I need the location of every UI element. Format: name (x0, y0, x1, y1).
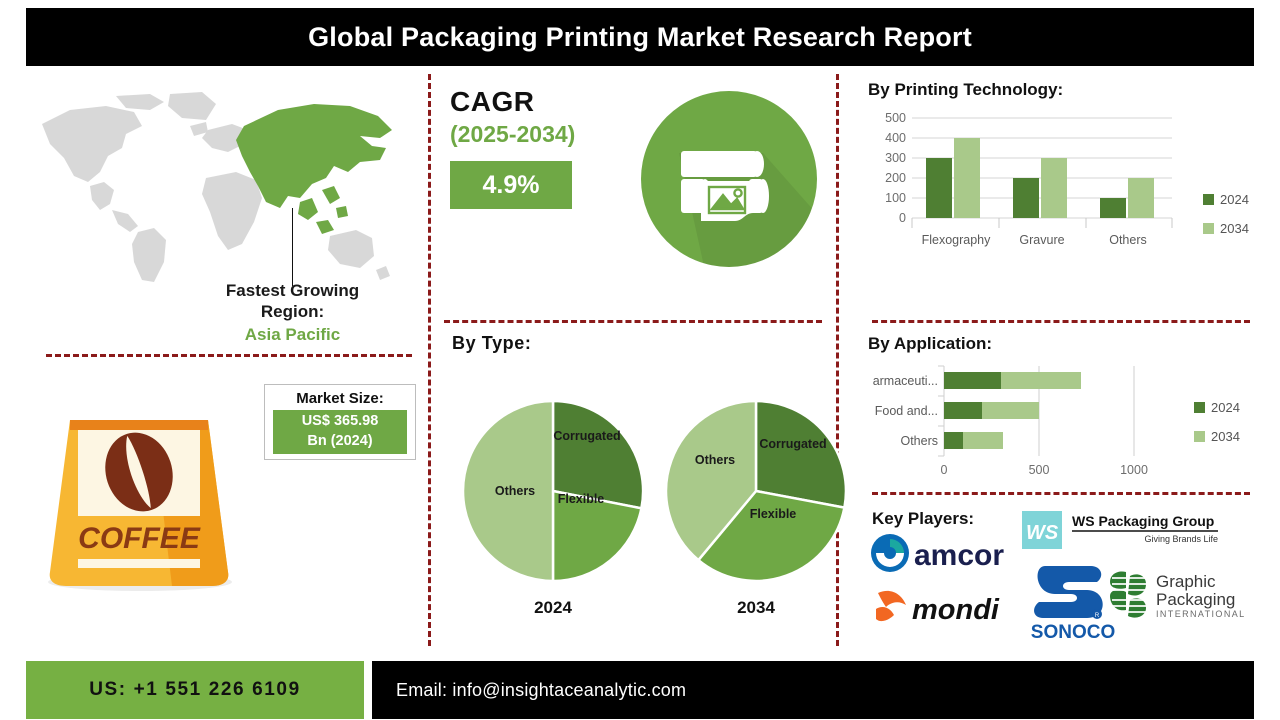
svg-text:500: 500 (1029, 463, 1050, 477)
pie-chart-2024: Corrugated Flexible Others (460, 398, 646, 584)
legend-item-app-2034: 2034 (1194, 429, 1240, 444)
coffee-bag-icon: COFFEE (32, 404, 247, 594)
pie-2024-slice-label-corrugated: Corrugated (553, 429, 620, 443)
graphic-packaging-name-line2: Packaging (1156, 590, 1235, 609)
divider-horizontal-col2 (444, 320, 822, 323)
divider-horizontal-col3-top (872, 320, 1250, 323)
legend-swatch-2034 (1203, 223, 1214, 234)
svg-text:SONOCO: SONOCO (1031, 622, 1115, 642)
svg-text:WS: WS (1026, 522, 1059, 544)
footer-email-text: Email: info@insightaceanalytic.com (396, 680, 686, 701)
svg-text:amcor: amcor (914, 539, 1004, 572)
svg-text:1000: 1000 (1120, 463, 1148, 477)
by-application-title: By Application: (868, 334, 992, 354)
svg-text:0: 0 (941, 463, 948, 477)
market-size-value-line1: US$ 365.98 (302, 413, 379, 429)
infographic-page: Global Packaging Printing Market Researc… (0, 0, 1280, 720)
svg-text:mondi: mondi (912, 594, 1000, 626)
svg-text:Pharmaceuti...: Pharmaceuti... (872, 374, 938, 388)
legend-item-2034: 2034 (1203, 221, 1249, 236)
key-players-title: Key Players: (872, 509, 974, 529)
pie-2024-year: 2024 (460, 598, 646, 618)
map-pointer-line (292, 208, 293, 286)
cagr-block: CAGR (2025-2034) 4.9% (450, 86, 640, 209)
region-label-line1: Fastest Growing (180, 280, 405, 301)
legend-swatch-app-2024 (1194, 402, 1205, 413)
region-label-line2: Region: (180, 301, 405, 322)
by-technology-legend: 2024 2034 (1203, 192, 1249, 250)
svg-text:Others: Others (900, 434, 938, 448)
pie-2024-slice-label-flexible: Flexible (558, 492, 605, 506)
svg-text:100: 100 (885, 191, 906, 205)
divider-horizontal-col1 (46, 354, 412, 357)
legend-item-2024: 2024 (1203, 192, 1249, 207)
legend-item-app-2024: 2024 (1194, 400, 1240, 415)
svg-text:300: 300 (885, 151, 906, 165)
by-technology-title: By Printing Technology: (868, 80, 1063, 100)
amcor-logo: amcor (870, 532, 1010, 574)
footer-phone: US: +1 551 226 6109 (26, 661, 364, 719)
ws-packaging-logo: WS WS Packaging Group Giving Brands Life (1020, 509, 1250, 551)
printing-press-icon (639, 89, 819, 269)
svg-text:Food and...: Food and... (875, 404, 938, 418)
svg-text:400: 400 (885, 131, 906, 145)
by-type-title: By Type: (452, 333, 531, 354)
fastest-growing-region: Fastest Growing Region: Asia Pacific (180, 280, 405, 345)
pie-2034-year: 2034 (663, 598, 849, 618)
legend-label-app-2024: 2024 (1211, 400, 1240, 415)
svg-text:500: 500 (885, 111, 906, 125)
pie-2034-slice-label-corrugated: Corrugated (759, 437, 826, 451)
graphic-packaging-tagline: INTERNATIONAL (1156, 609, 1246, 619)
by-technology-chart: 500 400 300 200 100 0 Flexography Gravur… (872, 110, 1192, 260)
svg-text:0: 0 (899, 211, 906, 225)
svg-text:R: R (1095, 613, 1100, 619)
cagr-label: CAGR (450, 86, 640, 118)
pie-2034-slice-label-others: Others (695, 453, 735, 467)
pie-chart-2034: Corrugated Flexible Others (663, 398, 849, 584)
legend-swatch-2024 (1203, 194, 1214, 205)
svg-text:Gravure: Gravure (1019, 233, 1064, 247)
by-application-chart: Pharmaceuti... Food and... Others 0 500 … (872, 364, 1192, 494)
pie-2024-slice-label-others: Others (495, 484, 535, 498)
world-map-icon (30, 86, 420, 286)
svg-text:COFFEE: COFFEE (78, 522, 201, 555)
pie-2034-slice-label-flexible: Flexible (750, 507, 797, 521)
ws-packaging-tagline: Giving Brands Life (1144, 534, 1218, 544)
legend-label-app-2034: 2034 (1211, 429, 1240, 444)
cagr-value: 4.9% (450, 161, 572, 209)
graphic-packaging-name-line1: Graphic (1156, 572, 1216, 591)
page-title: Global Packaging Printing Market Researc… (308, 22, 972, 53)
svg-text:Flexography: Flexography (922, 233, 992, 247)
market-size-title: Market Size: (296, 390, 384, 407)
ws-packaging-name: WS Packaging Group (1072, 513, 1214, 529)
market-size-value-line2: Bn (2024) (307, 433, 372, 449)
footer-email-bar: Email: info@insightaceanalytic.com INSIG… (372, 661, 1254, 719)
market-size-value: US$ 365.98 Bn (2024) (273, 410, 407, 454)
mondi-logo: mondi (872, 585, 1012, 627)
svg-text:Others: Others (1109, 233, 1147, 247)
cagr-period: (2025-2034) (450, 121, 640, 148)
divider-vertical-left (428, 74, 431, 646)
legend-swatch-app-2034 (1194, 431, 1205, 442)
header-bar: Global Packaging Printing Market Researc… (26, 8, 1254, 66)
region-value: Asia Pacific (180, 325, 405, 345)
svg-text:200: 200 (885, 171, 906, 185)
graphic-packaging-logo: Graphic Packaging INTERNATIONAL (1104, 566, 1254, 622)
legend-label-2034: 2034 (1220, 221, 1249, 236)
footer-phone-text: US: +1 551 226 6109 (89, 679, 301, 701)
by-application-legend: 2024 2034 (1194, 400, 1240, 458)
legend-label-2024: 2024 (1220, 192, 1249, 207)
market-size-card: Market Size: US$ 365.98 Bn (2024) (264, 384, 416, 460)
